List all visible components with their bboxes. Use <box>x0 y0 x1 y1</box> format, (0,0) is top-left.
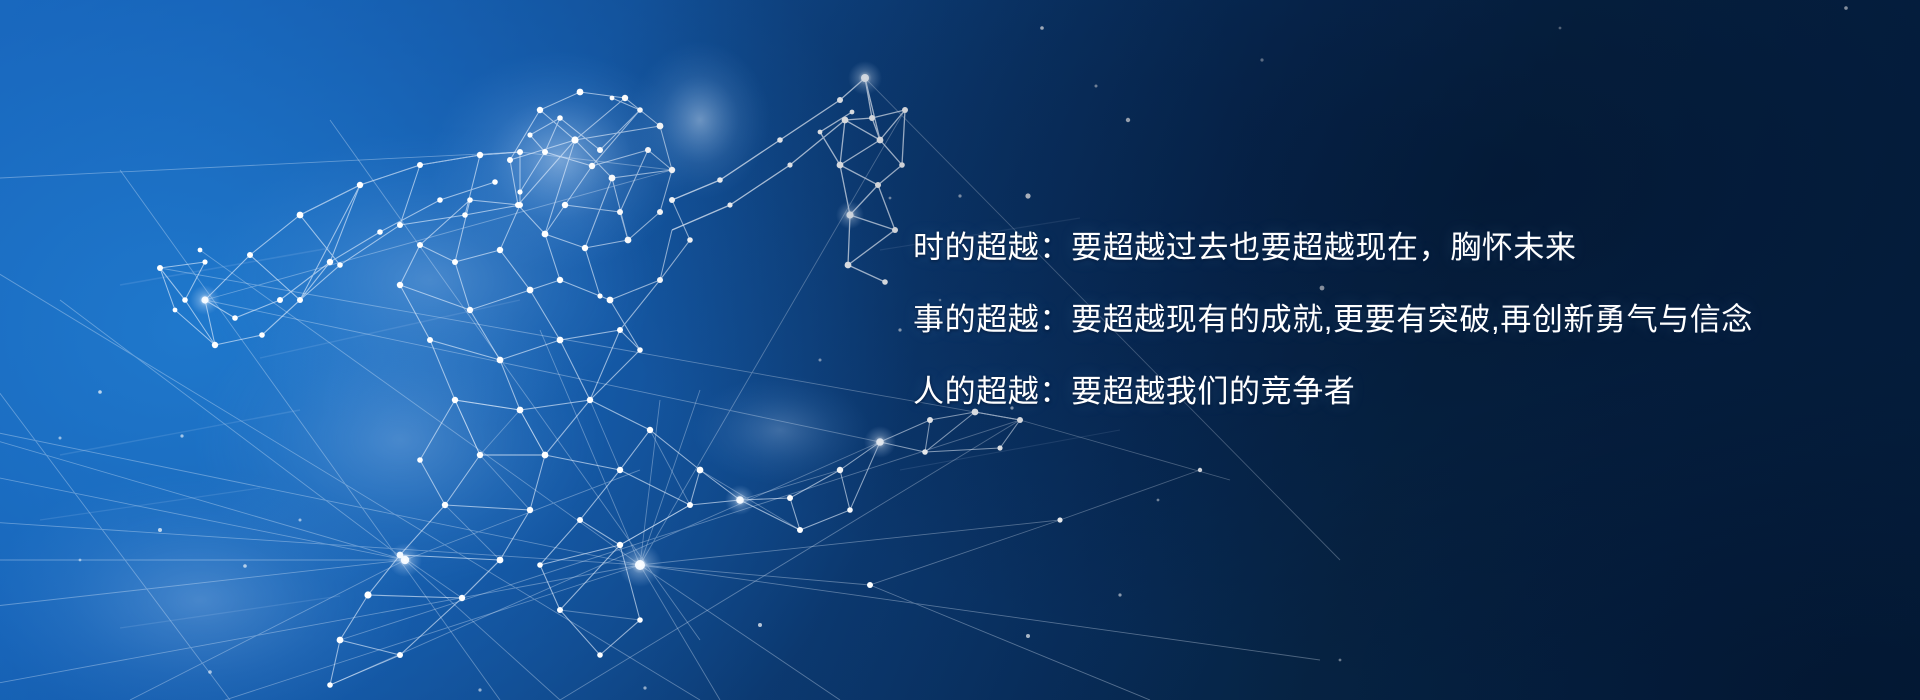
runner-torso <box>400 200 690 455</box>
slogan-text-block: 时的超越：要超越过去也要超越现在，胸怀未来 事的超越：要超越现有的成就,更要有突… <box>913 232 1813 407</box>
slogan-line-time: 时的超越：要超越过去也要超越现在，胸怀未来 <box>913 232 1813 263</box>
runner-head <box>510 92 672 248</box>
figure-glow <box>0 40 870 700</box>
runner-arm-left <box>160 152 520 345</box>
runner-legs <box>330 400 1020 685</box>
background-mesh <box>0 120 1320 700</box>
node-halos <box>190 61 896 587</box>
slogan-line-achievement: 事的超越：要超越现有的成就,更要有突破,再创新勇气与信念 <box>913 304 1813 335</box>
slogan-line-competitor: 人的超越：要超越我们的竞争者 <box>913 376 1813 407</box>
runner-hip-mesh <box>400 400 840 620</box>
banner-hero: 时的超越：要超越过去也要超越现在，胸怀未来 事的超越：要超越现有的成就,更要有突… <box>0 0 1920 700</box>
runner-arm-right <box>672 78 905 282</box>
